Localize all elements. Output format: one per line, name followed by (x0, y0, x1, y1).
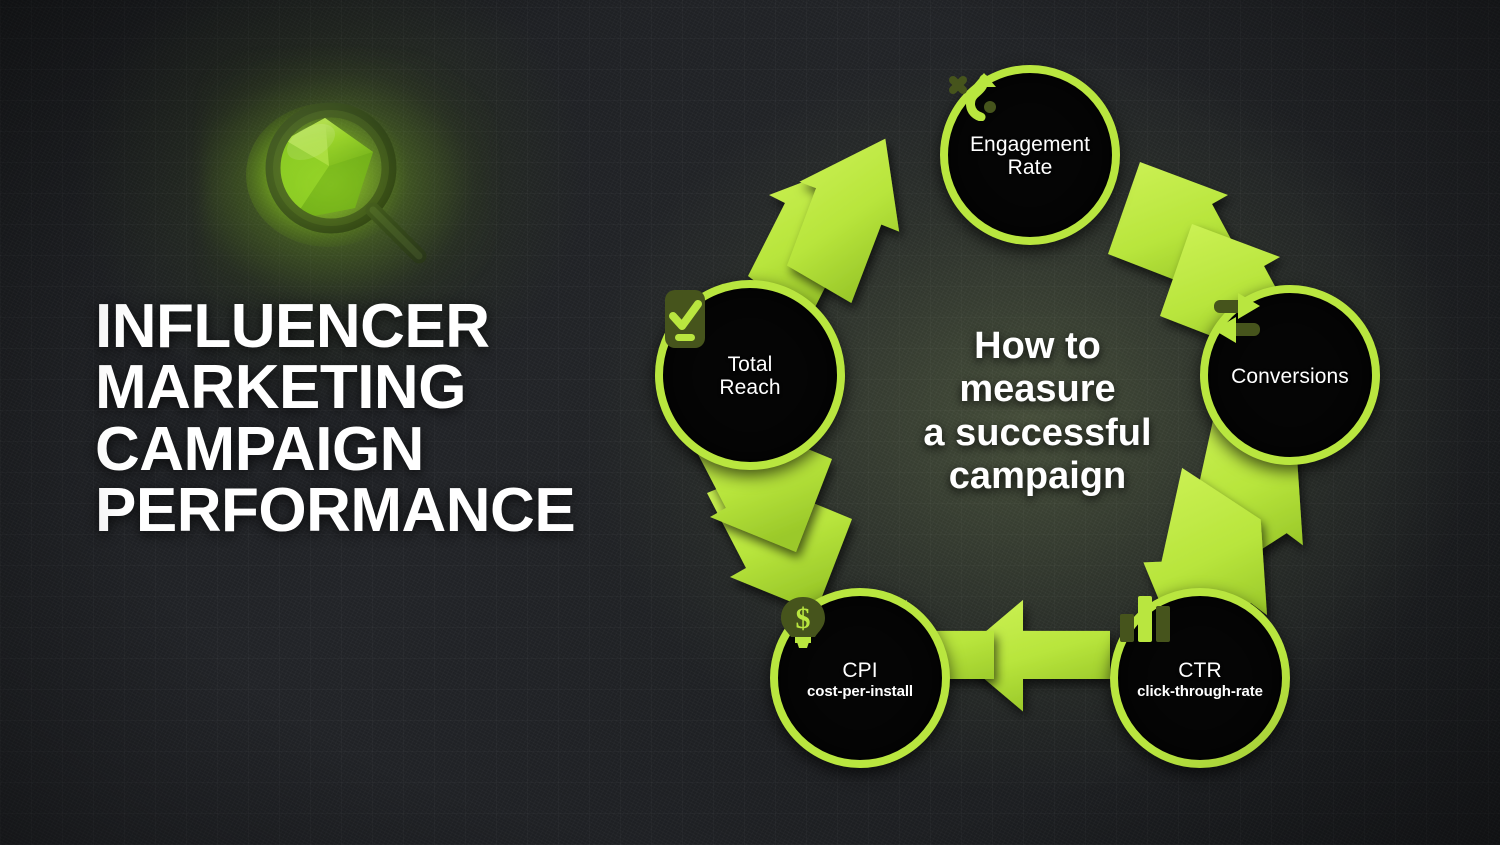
node-label-line1: Conversions (1231, 365, 1349, 388)
title-line-2: MARKETING (95, 357, 695, 418)
node-sublabel: cost-per-install (807, 683, 913, 700)
center-line-4: campaign (910, 455, 1165, 498)
center-line-1: How to (910, 325, 1165, 368)
node-label: CTR (1178, 660, 1221, 683)
page-title: INFLUENCER MARKETING CAMPAIGN PERFORMANC… (95, 296, 695, 542)
title-line-3: CAMPAIGN (95, 419, 695, 480)
brand-logo (233, 80, 458, 270)
node-label: Total Reach (719, 354, 780, 399)
node-label: Engagement Rate (970, 134, 1090, 179)
center-heading: How to measure a successful campaign (910, 325, 1165, 498)
cycle-node-ctr[interactable]: CTR click-through-rate (1110, 588, 1290, 768)
center-line-3: a successful (910, 412, 1165, 455)
node-sublabel: click-through-rate (1137, 683, 1263, 700)
node-label-line2: Reach (719, 376, 780, 399)
cycle-diagram: How to measure a successful campaign Eng… (620, 40, 1440, 820)
node-label-line1: Total (728, 353, 773, 376)
infographic-canvas: INFLUENCER MARKETING CAMPAIGN PERFORMANC… (0, 0, 1500, 845)
node-label-line1: Engagement (970, 133, 1090, 156)
title-line-1: INFLUENCER (95, 296, 695, 357)
center-line-2: measure (910, 368, 1165, 411)
logo-glow (203, 54, 493, 304)
cycle-node-cpi[interactable]: $ CPI cost-per-install (770, 588, 950, 768)
svg-text:$: $ (796, 602, 811, 635)
cycle-node-total-reach[interactable]: Total Reach (655, 280, 845, 470)
node-label: CPI (842, 660, 877, 683)
node-label-line2: Rate (1008, 156, 1053, 179)
title-line-4: PERFORMANCE (95, 480, 695, 541)
node-label-line1: CTR (1178, 659, 1221, 682)
node-label: Conversions (1231, 366, 1349, 389)
cycle-node-engagement-rate[interactable]: Engagement Rate (940, 65, 1120, 245)
cycle-node-conversions[interactable]: Conversions (1200, 285, 1380, 465)
node-label-line1: CPI (842, 659, 877, 682)
